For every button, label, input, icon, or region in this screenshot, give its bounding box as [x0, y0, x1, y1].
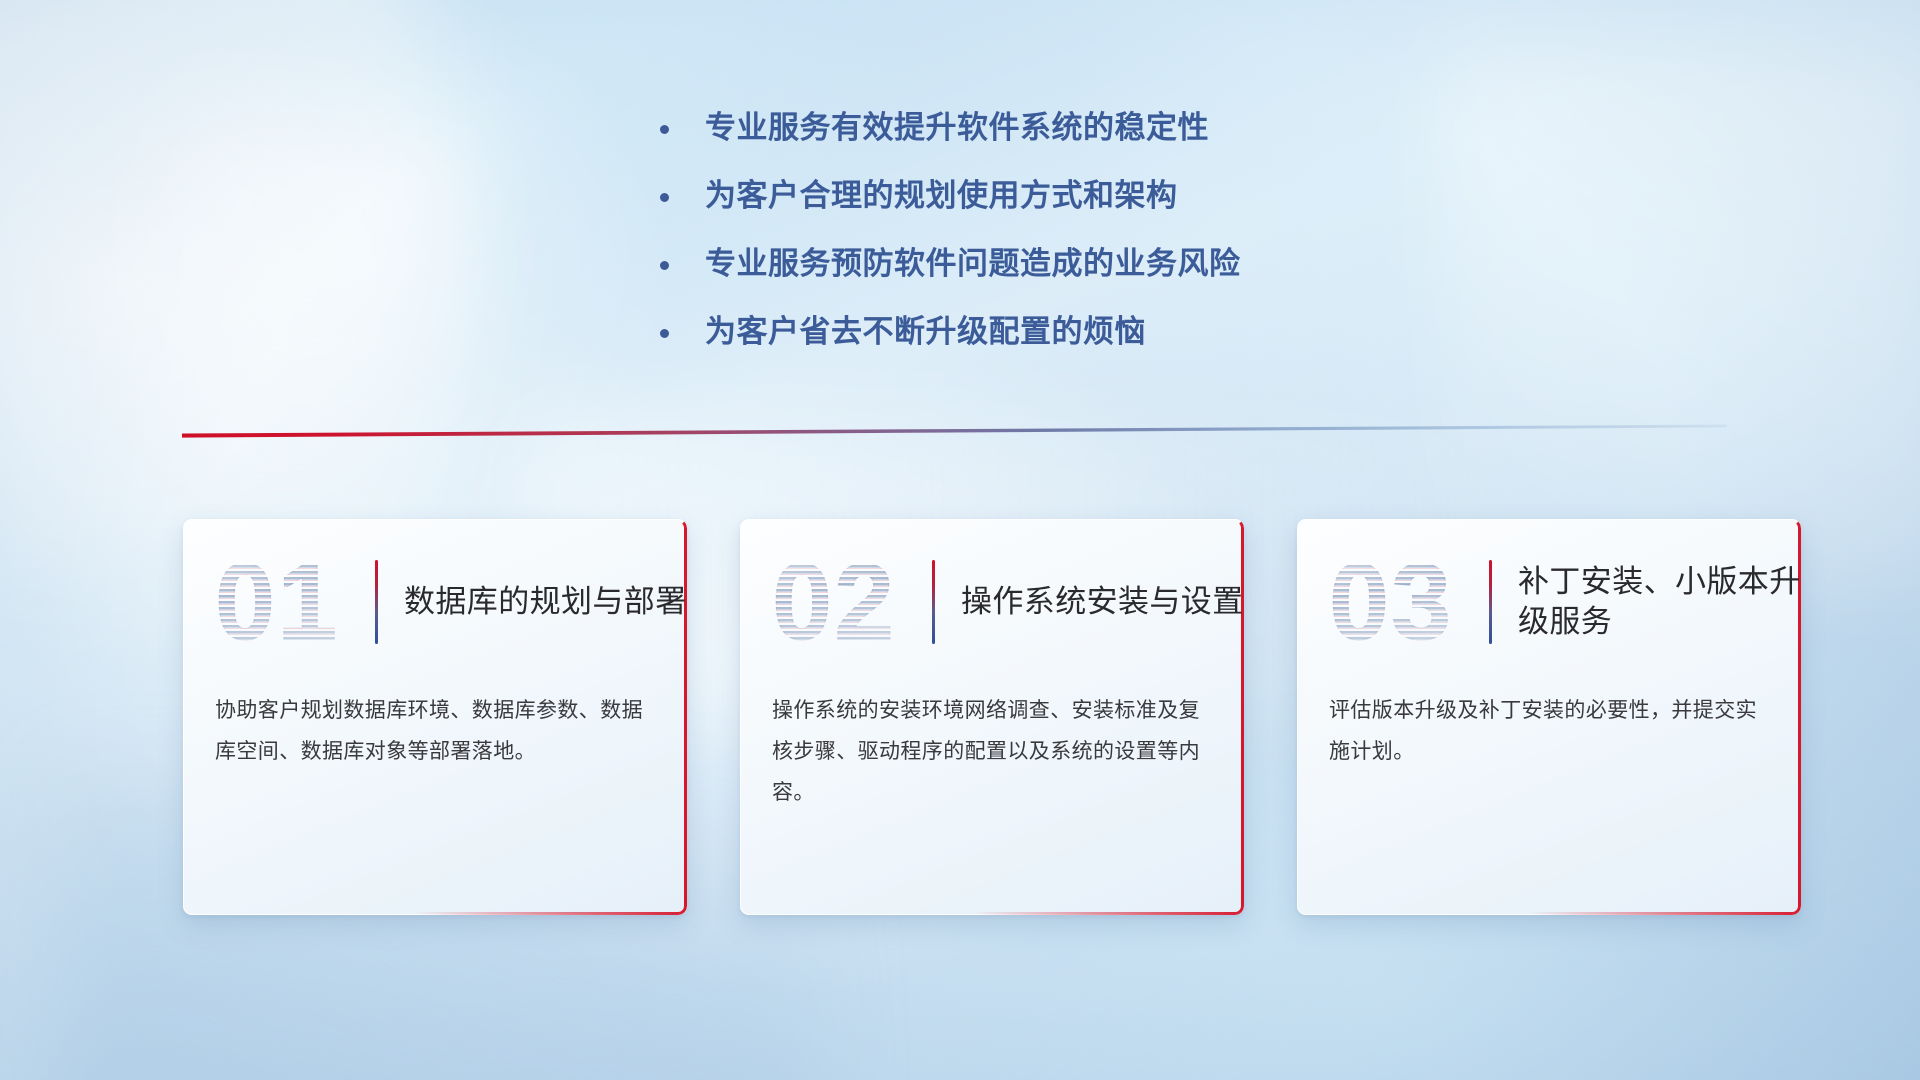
service-card[interactable]: 01 数据库的规划与部署 协助客户规划数据库环境、数据库参数、数据库空间、数据库… — [183, 519, 687, 915]
bullet-label: 专业服务预防软件问题造成的业务风险 — [705, 244, 1241, 283]
card-number-striped: 01 — [211, 547, 363, 657]
bullet-dot-icon — [660, 261, 669, 270]
card-title-divider — [375, 560, 378, 644]
service-card-group: 01 数据库的规划与部署 协助客户规划数据库环境、数据库参数、数据库空间、数据库… — [183, 519, 1803, 915]
bullet-dot-icon — [660, 125, 669, 134]
card-header: 01 数据库的规划与部署 — [183, 519, 687, 671]
background-streak-1 — [0, 0, 519, 587]
list-item: 为客户省去不断升级配置的烦恼 — [660, 312, 1560, 351]
benefits-bullet-list: 专业服务有效提升软件系统的稳定性 为客户合理的规划使用方式和架构 专业服务预防软… — [660, 108, 1560, 380]
card-body-text: 协助客户规划数据库环境、数据库参数、数据库空间、数据库对象等部署落地。 — [183, 671, 687, 773]
list-item: 专业服务有效提升软件系统的稳定性 — [660, 108, 1560, 147]
card-header: 02 操作系统安装与设置 — [740, 519, 1244, 671]
bullet-dot-icon — [660, 329, 669, 338]
card-title-divider — [1489, 560, 1492, 644]
svg-text:01: 01 — [215, 547, 339, 657]
bullet-label: 专业服务有效提升软件系统的稳定性 — [705, 108, 1209, 147]
svg-text:02: 02 — [772, 547, 896, 657]
list-item: 专业服务预防软件问题造成的业务风险 — [660, 244, 1560, 283]
card-number-striped: 02 — [768, 547, 920, 657]
slide-canvas: 专业服务有效提升软件系统的稳定性 为客户合理的规划使用方式和架构 专业服务预防软… — [0, 0, 1920, 1080]
bullet-dot-icon — [660, 193, 669, 202]
section-divider — [182, 424, 1727, 446]
card-title: 补丁安装、小版本升级服务 — [1518, 562, 1801, 643]
card-body-text: 评估版本升级及补丁安装的必要性，并提交实施计划。 — [1297, 671, 1801, 773]
service-card[interactable]: 02 操作系统安装与设置 操作系统的安装环境网络调查、安装标准及复核步骤、驱动程… — [740, 519, 1244, 915]
bullet-label: 为客户省去不断升级配置的烦恼 — [705, 312, 1146, 351]
card-title-divider — [932, 560, 935, 644]
card-title: 数据库的规划与部署 — [404, 582, 687, 622]
card-header: 03 补丁安装、小版本升级服务 — [1297, 519, 1801, 671]
list-item: 为客户合理的规划使用方式和架构 — [660, 176, 1560, 215]
card-body-text: 操作系统的安装环境网络调查、安装标准及复核步骤、驱动程序的配置以及系统的设置等内… — [740, 671, 1244, 814]
bullet-label: 为客户合理的规划使用方式和架构 — [705, 176, 1178, 215]
svg-text:03: 03 — [1329, 547, 1453, 657]
card-title: 操作系统安装与设置 — [961, 582, 1244, 622]
service-card[interactable]: 03 补丁安装、小版本升级服务 评估版本升级及补丁安装的必要性，并提交实施计划。 — [1297, 519, 1801, 915]
card-number-striped: 03 — [1325, 547, 1477, 657]
